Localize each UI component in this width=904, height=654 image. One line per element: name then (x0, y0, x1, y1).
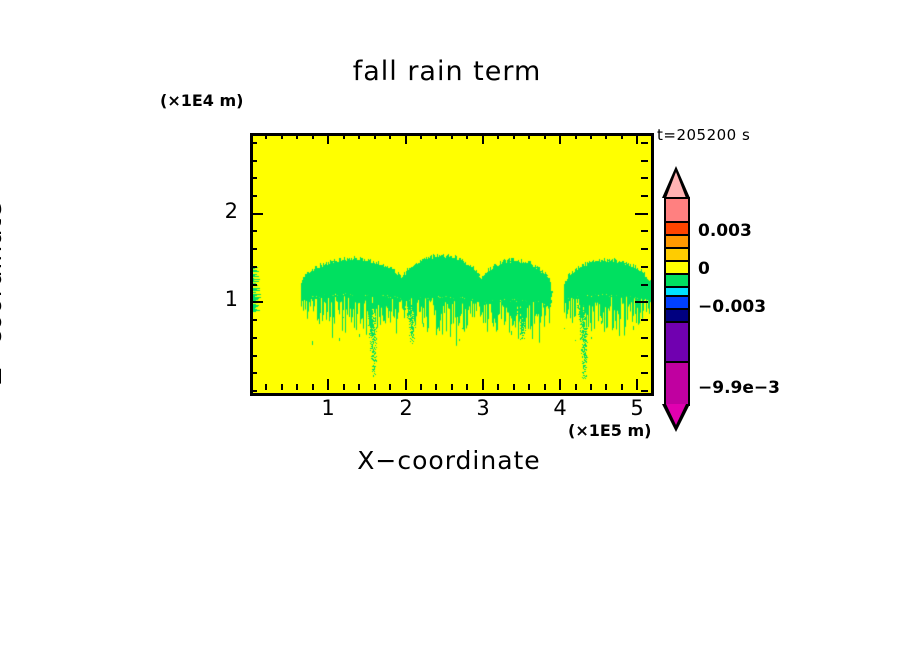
x-tick (296, 133, 298, 139)
y-axis-title: Z−coordinate (0, 163, 7, 423)
y-tick-label: 2 (198, 199, 238, 223)
x-tick-label: 4 (540, 396, 580, 420)
colorbar-band (666, 323, 688, 363)
y-tick (641, 337, 648, 339)
y-tick (635, 213, 648, 215)
y-tick (250, 301, 263, 303)
y-tick (250, 284, 257, 286)
x-tick (605, 384, 607, 390)
x-axis-unit-label: (×1E5 m) (568, 421, 651, 440)
x-tick (451, 384, 453, 390)
x-tick (497, 384, 499, 390)
y-tick (641, 195, 648, 197)
x-tick (374, 133, 376, 139)
x-tick (497, 133, 499, 139)
x-tick (312, 384, 314, 390)
x-tick (281, 133, 283, 139)
colorbar-band-divider (664, 260, 690, 262)
colorbar-band-divider (664, 295, 690, 297)
colorbar-band (666, 363, 688, 404)
x-tick (544, 384, 546, 390)
x-tick (590, 133, 592, 139)
x-tick (405, 379, 407, 390)
y-tick (250, 160, 257, 162)
x-tick (420, 384, 422, 390)
y-tick (641, 266, 648, 268)
x-tick-label: 5 (617, 396, 657, 420)
colorbar-band-divider (664, 273, 690, 275)
colorbar-band-divider (664, 234, 690, 236)
x-tick (435, 384, 437, 390)
y-tick (635, 301, 648, 303)
colorbar-tick-label: 0.003 (698, 221, 752, 241)
y-axis-unit-label: (×1E4 m) (160, 91, 243, 110)
x-tick (636, 379, 638, 390)
x-tick (265, 133, 267, 139)
y-tick (641, 177, 648, 179)
colorbar-bands (664, 197, 690, 406)
x-tick (327, 133, 329, 144)
x-tick (281, 384, 283, 390)
x-tick (296, 384, 298, 390)
x-tick (265, 384, 267, 390)
x-tick (358, 384, 360, 390)
y-tick (641, 319, 648, 321)
x-tick (544, 133, 546, 139)
y-tick (641, 372, 648, 374)
x-tick (420, 133, 422, 139)
x-tick (451, 133, 453, 139)
page-title: fall rain term (0, 56, 899, 87)
y-tick (250, 177, 257, 179)
y-tick (250, 337, 257, 339)
colorbar-band-divider (664, 286, 690, 288)
y-tick (641, 230, 648, 232)
y-tick-label: 1 (198, 287, 238, 311)
x-tick (466, 133, 468, 139)
x-tick (327, 379, 329, 390)
x-tick (250, 133, 252, 139)
x-tick-label: 1 (308, 396, 348, 420)
colorbar-band-divider (664, 247, 690, 249)
colorbar-band-divider (664, 308, 690, 310)
colorbar-extend-high-fill (666, 172, 686, 198)
y-tick (250, 266, 257, 268)
y-tick (641, 355, 648, 357)
colorbar-band-divider (664, 221, 690, 223)
x-tick (605, 133, 607, 139)
x-tick (466, 384, 468, 390)
x-tick (358, 133, 360, 139)
y-tick (641, 248, 648, 250)
x-tick (528, 133, 530, 139)
y-tick (250, 248, 257, 250)
x-tick-label: 3 (463, 396, 503, 420)
x-tick (559, 379, 561, 390)
x-tick (559, 133, 561, 144)
x-tick (575, 133, 577, 139)
colorbar-tick-label: −9.9e−3 (698, 378, 780, 398)
x-tick-label: 2 (386, 396, 426, 420)
x-tick (435, 133, 437, 139)
x-tick (343, 384, 345, 390)
colorbar-band (666, 199, 688, 223)
x-axis-title: X−coordinate (250, 446, 648, 475)
x-tick (343, 133, 345, 139)
x-tick (590, 384, 592, 390)
colorbar-band-divider (664, 361, 690, 363)
colorbar-extend-low-fill (666, 404, 686, 425)
x-tick (482, 133, 484, 144)
x-tick (513, 384, 515, 390)
y-tick (250, 372, 257, 374)
colorbar-tick-label: 0 (698, 259, 710, 279)
x-tick (621, 384, 623, 390)
y-tick (250, 390, 257, 392)
plot-area (250, 133, 654, 396)
x-tick (621, 133, 623, 139)
y-tick (250, 319, 257, 321)
x-tick (528, 384, 530, 390)
x-tick (389, 133, 391, 139)
y-tick (641, 160, 648, 162)
y-tick (250, 213, 263, 215)
x-tick (636, 133, 638, 144)
x-tick (575, 384, 577, 390)
colorbar-tick-label: −0.003 (698, 297, 766, 317)
colorbar-band-divider (664, 321, 690, 323)
y-tick (250, 195, 257, 197)
x-tick (389, 384, 391, 390)
x-tick (513, 133, 515, 139)
y-tick (250, 142, 257, 144)
y-tick (641, 142, 648, 144)
y-tick (641, 390, 648, 392)
x-tick (405, 133, 407, 144)
y-tick (250, 355, 257, 357)
field-contour-canvas (253, 136, 651, 393)
x-tick (482, 379, 484, 390)
y-tick (250, 230, 257, 232)
x-tick (312, 133, 314, 139)
x-tick (374, 384, 376, 390)
y-tick (641, 284, 648, 286)
timestamp-annotation: t=205200 s (657, 126, 750, 144)
